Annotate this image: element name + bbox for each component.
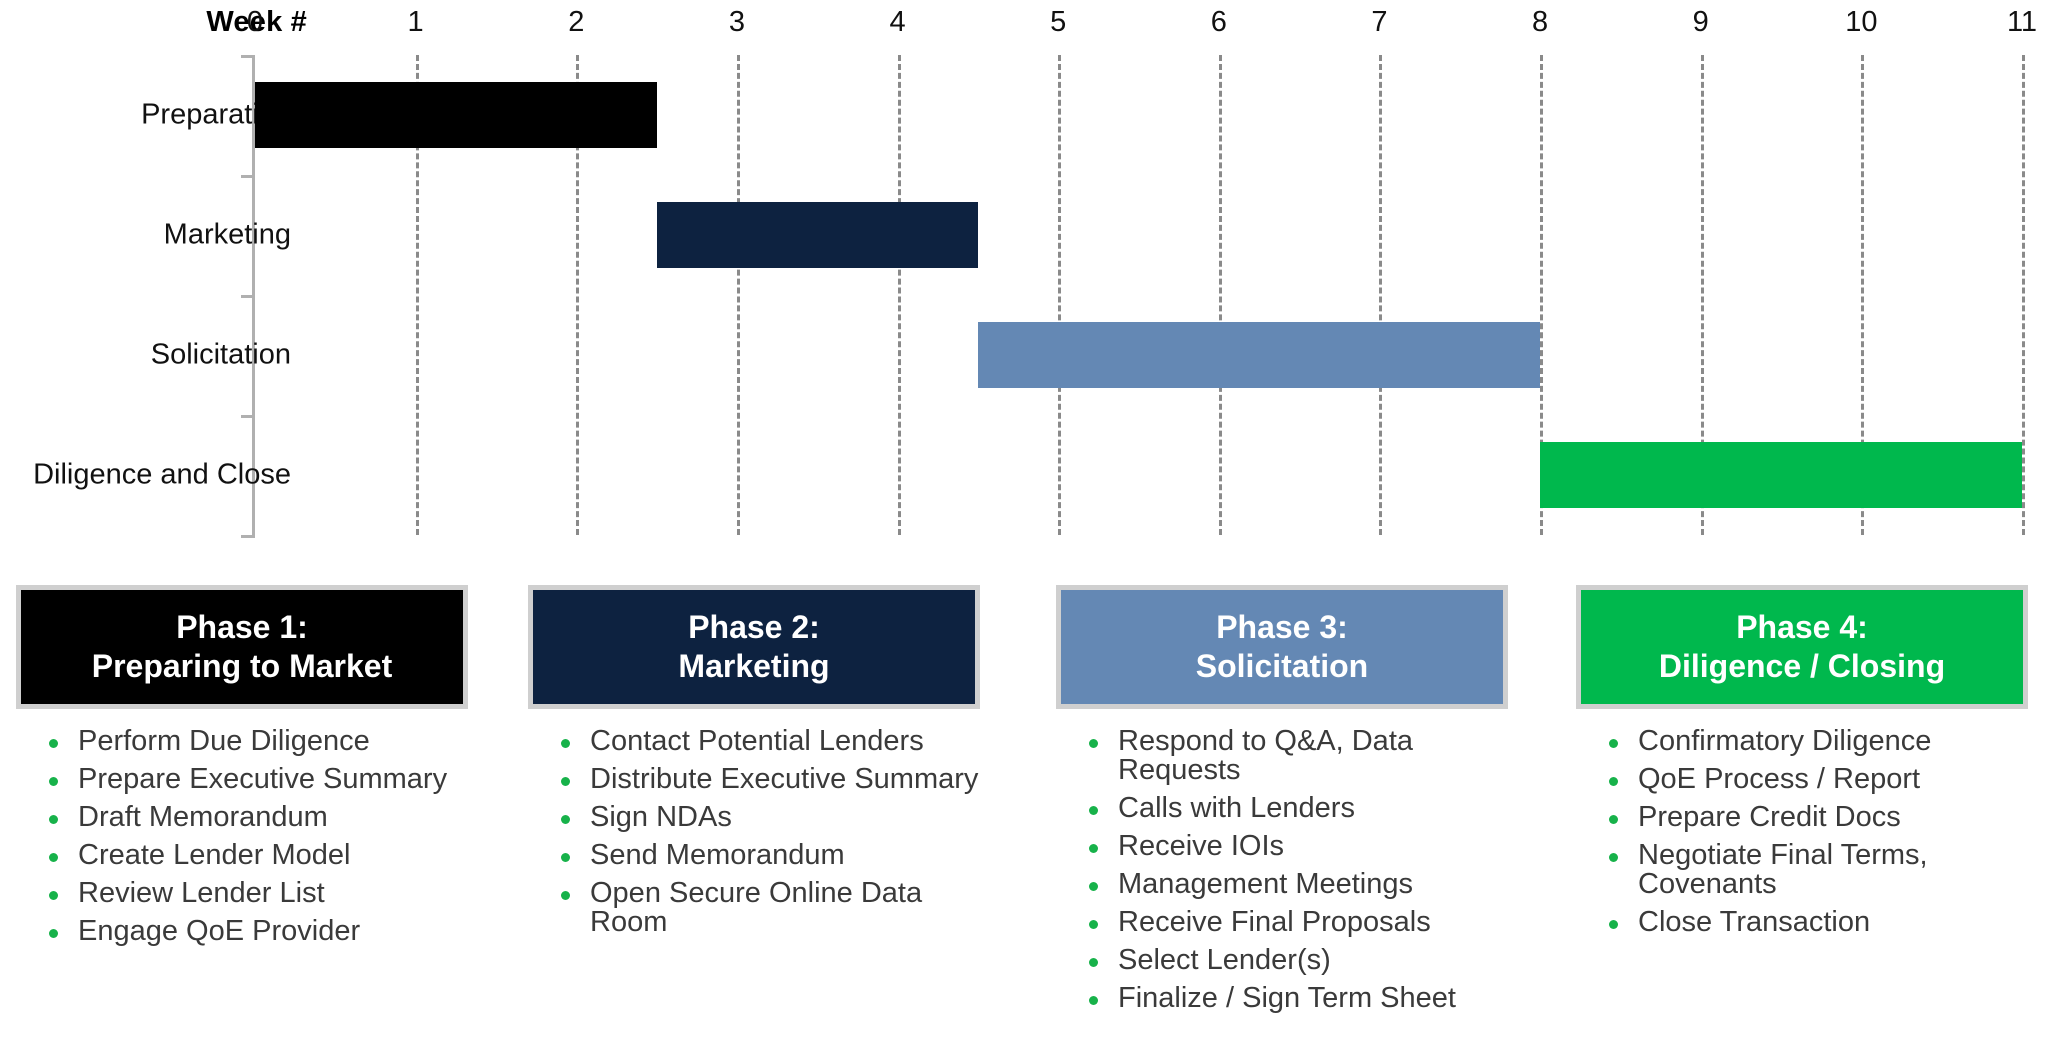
list-item-label: Respond to Q&A, Data Requests bbox=[1118, 725, 1413, 786]
list-item: Management Meetings bbox=[1056, 870, 1508, 899]
bullet-dot-icon bbox=[49, 853, 58, 862]
phase-title-line2: Diligence / Closing bbox=[1659, 647, 1945, 686]
phase-title-line2: Solicitation bbox=[1196, 647, 1368, 686]
list-item: Prepare Executive Summary bbox=[16, 765, 468, 794]
phase-task-list-1: Perform Due DiligencePrepare Executive S… bbox=[16, 709, 468, 946]
phase-task-list-4: Confirmatory DiligenceQoE Process / Repo… bbox=[1576, 709, 2028, 937]
phase-card-2: Phase 2:MarketingContact Potential Lende… bbox=[528, 585, 980, 946]
list-item-label: Sign NDAs bbox=[590, 801, 732, 833]
list-item-label: Perform Due Diligence bbox=[78, 725, 370, 757]
phase-title-line2: Marketing bbox=[678, 647, 829, 686]
bullet-dot-icon bbox=[1089, 844, 1098, 853]
x-tick-label-3: 3 bbox=[729, 6, 745, 39]
list-item-label: Create Lender Model bbox=[78, 839, 350, 871]
list-item-label: Contact Potential Lenders bbox=[590, 725, 924, 757]
phase-cards: Phase 1:Preparing to MarketPerform Due D… bbox=[0, 585, 2048, 1050]
list-item: Distribute Executive Summary bbox=[528, 765, 980, 794]
x-tick-label-6: 6 bbox=[1211, 6, 1227, 39]
gantt-bar-marketing bbox=[657, 202, 978, 268]
x-tick-label-9: 9 bbox=[1693, 6, 1709, 39]
x-tick-label-0: 0 bbox=[247, 6, 263, 39]
list-item-label: Open Secure Online Data Room bbox=[590, 877, 922, 938]
bullet-dot-icon bbox=[49, 929, 58, 938]
list-item-label: QoE Process / Report bbox=[1638, 763, 1920, 795]
phase-title-line1: Phase 2: bbox=[688, 608, 820, 647]
phase-card-header-1: Phase 1:Preparing to Market bbox=[16, 585, 468, 709]
bullet-dot-icon bbox=[561, 739, 570, 748]
gantt-bar-solicitation bbox=[978, 322, 1540, 388]
phase-title-line1: Phase 3: bbox=[1216, 608, 1348, 647]
x-tick-label-10: 10 bbox=[1845, 6, 1877, 39]
phase-card-4: Phase 4:Diligence / ClosingConfirmatory … bbox=[1576, 585, 2028, 946]
bullet-dot-icon bbox=[561, 853, 570, 862]
list-item-label: Negotiate Final Terms, Covenants bbox=[1638, 839, 1928, 900]
list-item-label: Review Lender List bbox=[78, 877, 325, 909]
x-tick-label-5: 5 bbox=[1050, 6, 1066, 39]
list-item: Sign NDAs bbox=[528, 803, 980, 832]
phase-card-header-2: Phase 2:Marketing bbox=[528, 585, 980, 709]
list-item: Confirmatory Diligence bbox=[1576, 727, 2028, 756]
list-item-label: Receive IOIs bbox=[1118, 830, 1284, 862]
list-item-label: Finalize / Sign Term Sheet bbox=[1118, 982, 1456, 1014]
list-item: Respond to Q&A, Data Requests bbox=[1056, 727, 1508, 785]
gantt-bar-preparation bbox=[255, 82, 657, 148]
phase-title-line2: Preparing to Market bbox=[92, 647, 393, 686]
gridline-week-3 bbox=[737, 55, 740, 535]
list-item-label: Distribute Executive Summary bbox=[590, 763, 978, 795]
phase-task-list-2: Contact Potential LendersDistribute Exec… bbox=[528, 709, 980, 937]
list-item: Negotiate Final Terms, Covenants bbox=[1576, 841, 2028, 899]
list-item: Receive IOIs bbox=[1056, 832, 1508, 861]
list-item-label: Draft Memorandum bbox=[78, 801, 328, 833]
list-item: Perform Due Diligence bbox=[16, 727, 468, 756]
phase-card-3: Phase 3:SolicitationRespond to Q&A, Data… bbox=[1056, 585, 1508, 1022]
phase-task-list-3: Respond to Q&A, Data RequestsCalls with … bbox=[1056, 709, 1508, 1013]
row-label-diligence-and-close: Diligence and Close bbox=[33, 459, 291, 492]
y-tick-4 bbox=[241, 535, 255, 538]
x-tick-label-4: 4 bbox=[889, 6, 905, 39]
bullet-dot-icon bbox=[1609, 777, 1618, 786]
bullet-dot-icon bbox=[49, 739, 58, 748]
phase-card-header-3: Phase 3:Solicitation bbox=[1056, 585, 1508, 709]
bullet-dot-icon bbox=[1609, 920, 1618, 929]
bullet-dot-icon bbox=[49, 777, 58, 786]
list-item: Select Lender(s) bbox=[1056, 946, 1508, 975]
bullet-dot-icon bbox=[1089, 920, 1098, 929]
list-item-label: Management Meetings bbox=[1118, 868, 1413, 900]
gantt-bar-diligence-and-close bbox=[1540, 442, 2022, 508]
gridline-week-5 bbox=[1058, 55, 1061, 535]
bullet-dot-icon bbox=[1089, 996, 1098, 1005]
y-tick-2 bbox=[241, 295, 255, 298]
list-item: Engage QoE Provider bbox=[16, 917, 468, 946]
list-item: Close Transaction bbox=[1576, 908, 2028, 937]
list-item: Draft Memorandum bbox=[16, 803, 468, 832]
bullet-dot-icon bbox=[49, 815, 58, 824]
list-item-label: Receive Final Proposals bbox=[1118, 906, 1431, 938]
list-item-label: Prepare Credit Docs bbox=[1638, 801, 1901, 833]
x-tick-label-11: 11 bbox=[2007, 6, 2037, 39]
y-tick-1 bbox=[241, 175, 255, 178]
x-tick-label-8: 8 bbox=[1532, 6, 1548, 39]
list-item-label: Prepare Executive Summary bbox=[78, 763, 447, 795]
phase-title-line1: Phase 4: bbox=[1736, 608, 1868, 647]
phase-card-header-4: Phase 4:Diligence / Closing bbox=[1576, 585, 2028, 709]
bullet-dot-icon bbox=[49, 891, 58, 900]
list-item: QoE Process / Report bbox=[1576, 765, 2028, 794]
list-item: Open Secure Online Data Room bbox=[528, 879, 980, 937]
list-item-label: Close Transaction bbox=[1638, 906, 1870, 938]
bullet-dot-icon bbox=[1609, 815, 1618, 824]
bullet-dot-icon bbox=[1089, 882, 1098, 891]
bullet-dot-icon bbox=[1609, 739, 1618, 748]
list-item: Prepare Credit Docs bbox=[1576, 803, 2028, 832]
gridline-week-4 bbox=[898, 55, 901, 535]
list-item: Review Lender List bbox=[16, 879, 468, 908]
list-item: Send Memorandum bbox=[528, 841, 980, 870]
bullet-dot-icon bbox=[561, 777, 570, 786]
list-item-label: Send Memorandum bbox=[590, 839, 845, 871]
list-item-label: Calls with Lenders bbox=[1118, 792, 1355, 824]
x-tick-label-2: 2 bbox=[568, 6, 584, 39]
list-item: Receive Final Proposals bbox=[1056, 908, 1508, 937]
list-item: Contact Potential Lenders bbox=[528, 727, 980, 756]
list-item: Calls with Lenders bbox=[1056, 794, 1508, 823]
phase-card-1: Phase 1:Preparing to MarketPerform Due D… bbox=[16, 585, 468, 955]
bullet-dot-icon bbox=[1089, 806, 1098, 815]
x-tick-label-7: 7 bbox=[1371, 6, 1387, 39]
bullet-dot-icon bbox=[1089, 958, 1098, 967]
y-tick-3 bbox=[241, 415, 255, 418]
bullet-dot-icon bbox=[1089, 739, 1098, 748]
list-item-label: Select Lender(s) bbox=[1118, 944, 1331, 976]
gridline-week-11 bbox=[2022, 55, 2025, 535]
bullet-dot-icon bbox=[561, 815, 570, 824]
gridline-week-7 bbox=[1379, 55, 1382, 535]
gantt-plot-area bbox=[255, 55, 2022, 535]
y-tick-0 bbox=[241, 55, 255, 58]
phase-title-line1: Phase 1: bbox=[176, 608, 308, 647]
bullet-dot-icon bbox=[561, 891, 570, 900]
list-item-label: Engage QoE Provider bbox=[78, 915, 360, 947]
list-item: Finalize / Sign Term Sheet bbox=[1056, 984, 1508, 1013]
x-tick-label-1: 1 bbox=[408, 6, 424, 39]
list-item: Create Lender Model bbox=[16, 841, 468, 870]
list-item-label: Confirmatory Diligence bbox=[1638, 725, 1931, 757]
bullet-dot-icon bbox=[1609, 853, 1618, 862]
gantt-chart: Week # 01234567891011 PreparationMarketi… bbox=[0, 0, 2048, 560]
gridline-week-6 bbox=[1219, 55, 1222, 535]
